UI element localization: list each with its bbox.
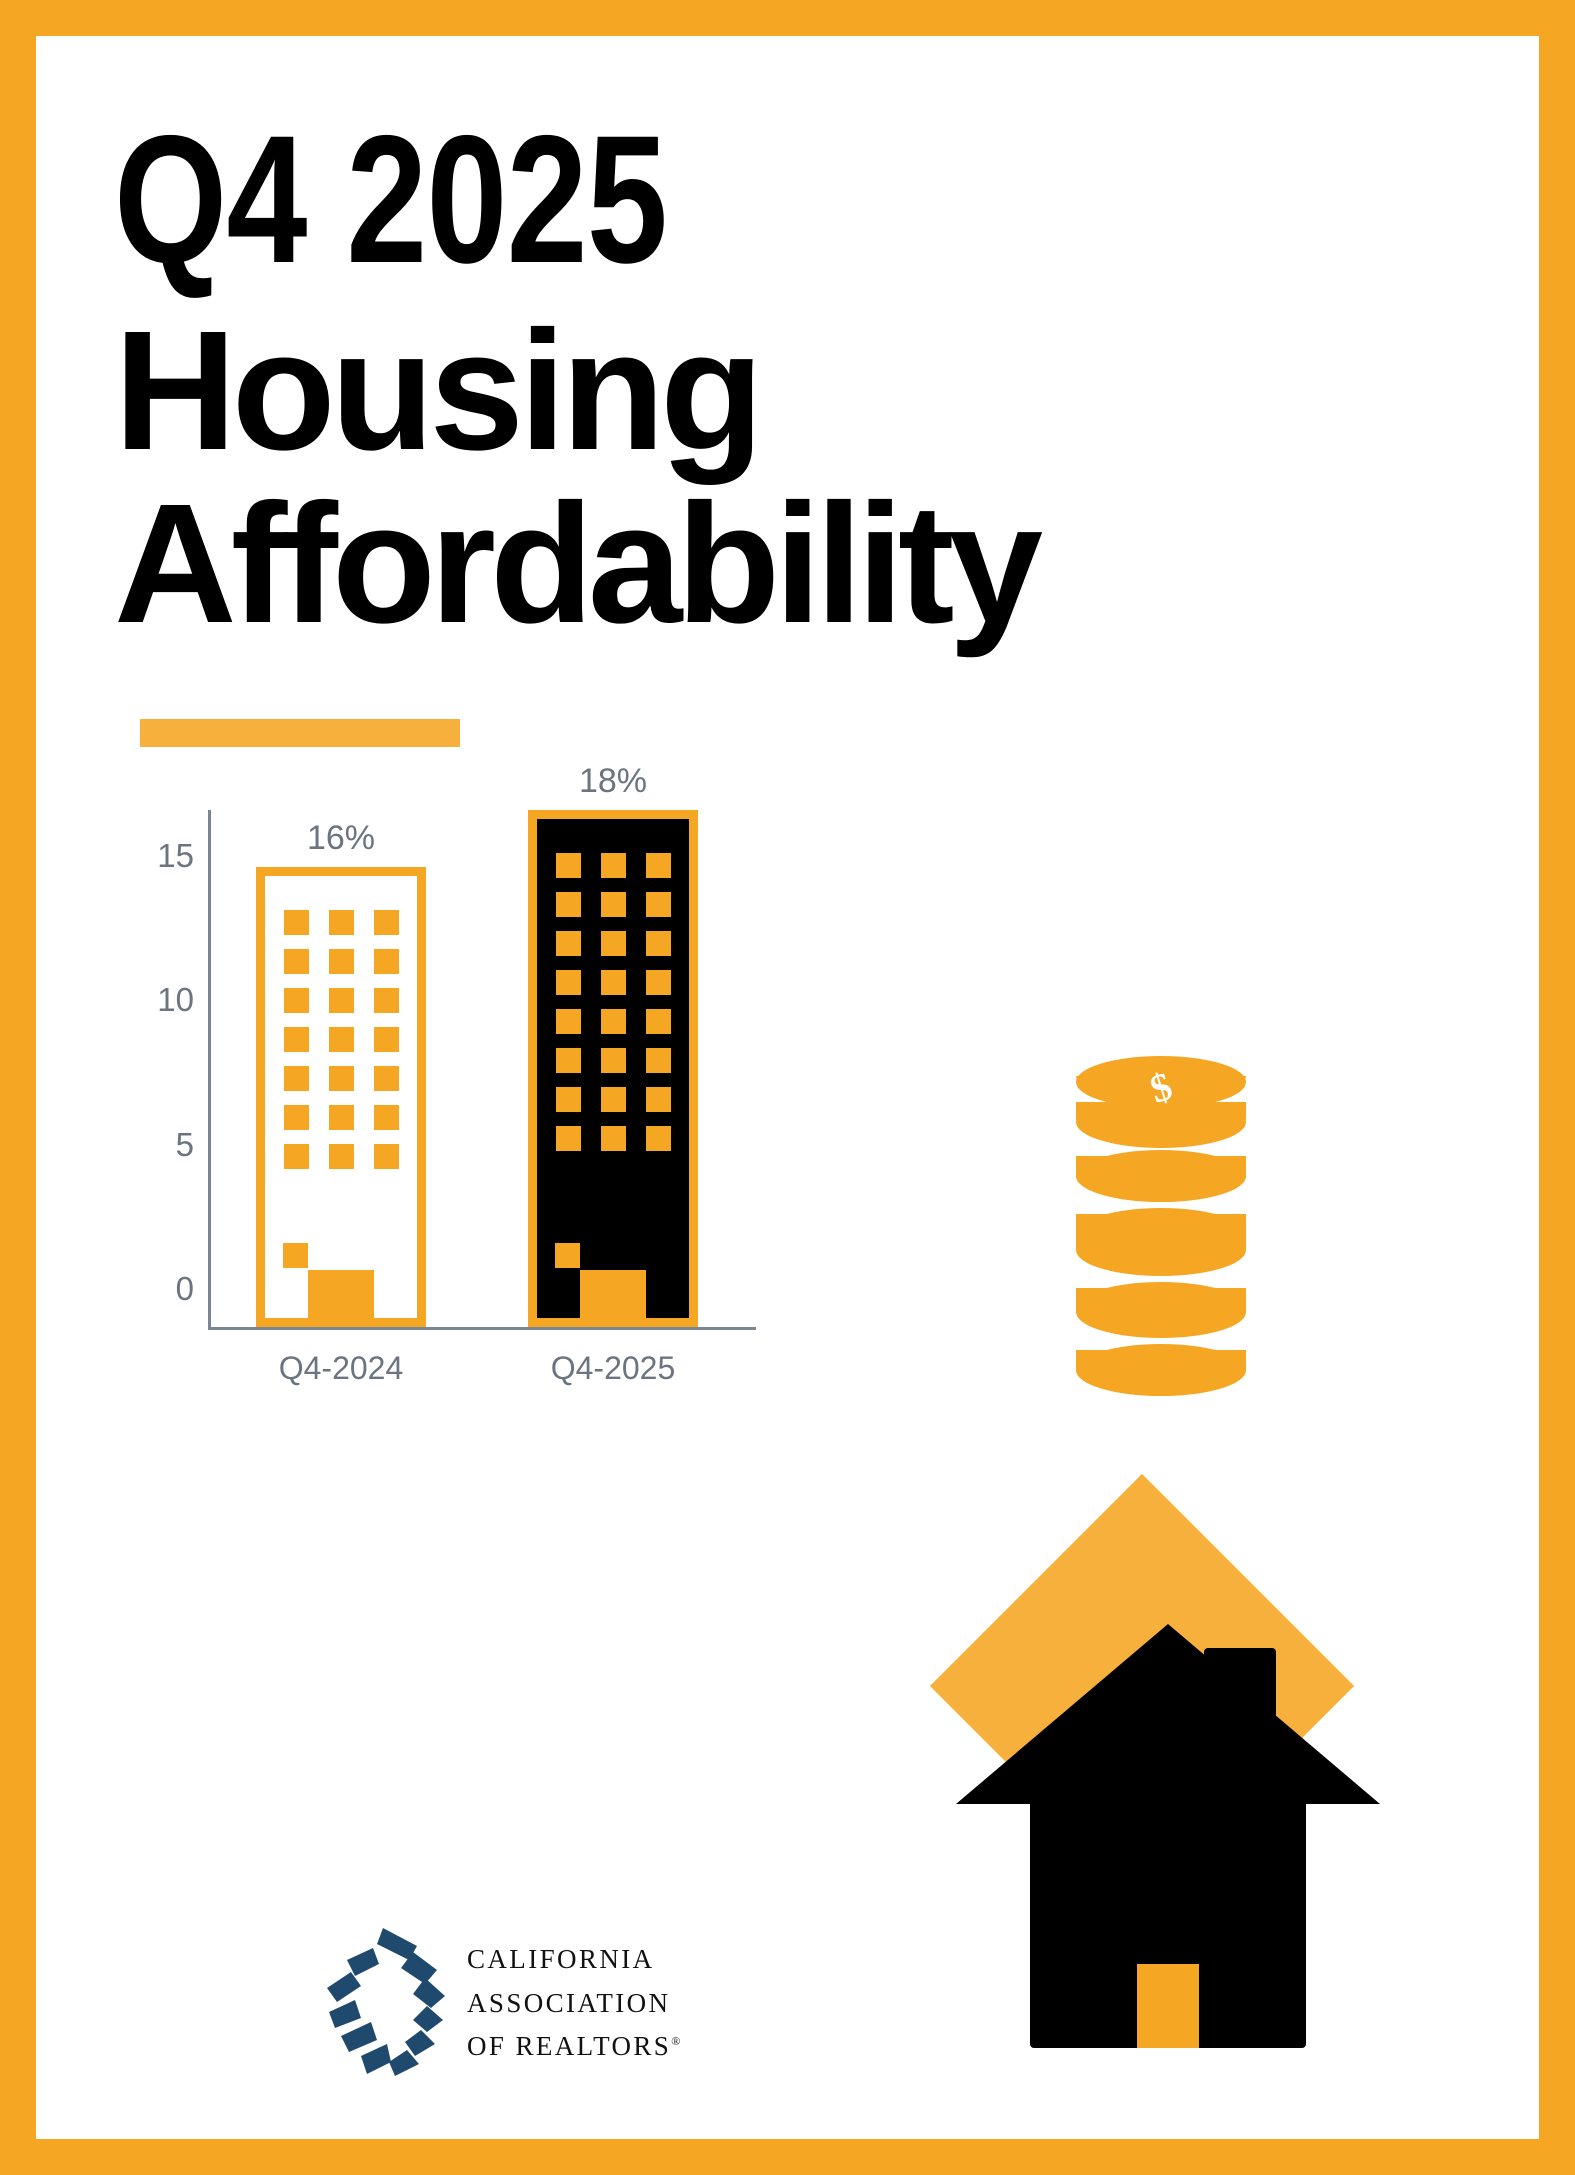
logo-line-3-text: OF REALTORS xyxy=(467,2031,671,2061)
chart-plot-area: 0 5 10 15 xyxy=(208,810,756,1330)
y-tick-label-10: 10 xyxy=(114,981,194,1019)
building-window-stub-2025 xyxy=(555,1243,580,1268)
logo-line-1: CALIFORNIA xyxy=(467,1938,683,1982)
house-roof xyxy=(956,1624,1380,1804)
car-logo: CALIFORNIA ASSOCIATION OF REALTORS® xyxy=(321,1916,741,2091)
logo-line-2: ASSOCIATION xyxy=(467,1982,683,2026)
y-axis-line xyxy=(208,810,211,1330)
data-label-q4-2025: 18% xyxy=(528,762,698,801)
y-tick-label-5: 5 xyxy=(114,1126,194,1164)
bar-q4-2025[interactable] xyxy=(528,810,698,1327)
poster-frame: Q4 2025 Housing Affordability 0 5 10 15 xyxy=(0,0,1575,2175)
building-door-2025 xyxy=(580,1270,646,1318)
car-logo-mark-icon xyxy=(321,1926,449,2076)
title-line-1: Housing xyxy=(114,303,1434,480)
x-axis-label-q4-2024: Q4-2024 xyxy=(256,1350,426,1387)
house-door xyxy=(1137,1964,1199,2048)
x-axis-label-q4-2025: Q4-2025 xyxy=(528,1350,698,1387)
data-label-q4-2024: 16% xyxy=(256,819,426,858)
house-body xyxy=(1030,1798,1306,2048)
car-logo-text: CALIFORNIA ASSOCIATION OF REALTORS® xyxy=(467,1938,683,2069)
coin-stack-icon: $ xyxy=(1076,1056,1246,1436)
y-tick-label-15: 15 xyxy=(114,837,194,875)
affordability-bar-chart: 0 5 10 15 xyxy=(96,796,736,1416)
y-tick-label-0: 0 xyxy=(114,1270,194,1308)
poster-canvas: Q4 2025 Housing Affordability 0 5 10 15 xyxy=(36,36,1539,2139)
title-eyebrow: Q4 2025 xyxy=(114,112,1170,287)
x-axis-line xyxy=(208,1327,756,1330)
logo-line-3: OF REALTORS® xyxy=(467,2025,683,2069)
title-block: Q4 2025 Housing Affordability xyxy=(114,112,1434,652)
title-accent-bar xyxy=(140,719,460,747)
building-window-stub-2024 xyxy=(283,1243,308,1268)
house-icon xyxy=(956,1536,1416,2076)
bar-q4-2024[interactable] xyxy=(256,867,426,1327)
building-door-2024 xyxy=(308,1270,374,1318)
title-line-2: Affordability xyxy=(114,476,1434,653)
registered-mark: ® xyxy=(671,2034,683,2048)
